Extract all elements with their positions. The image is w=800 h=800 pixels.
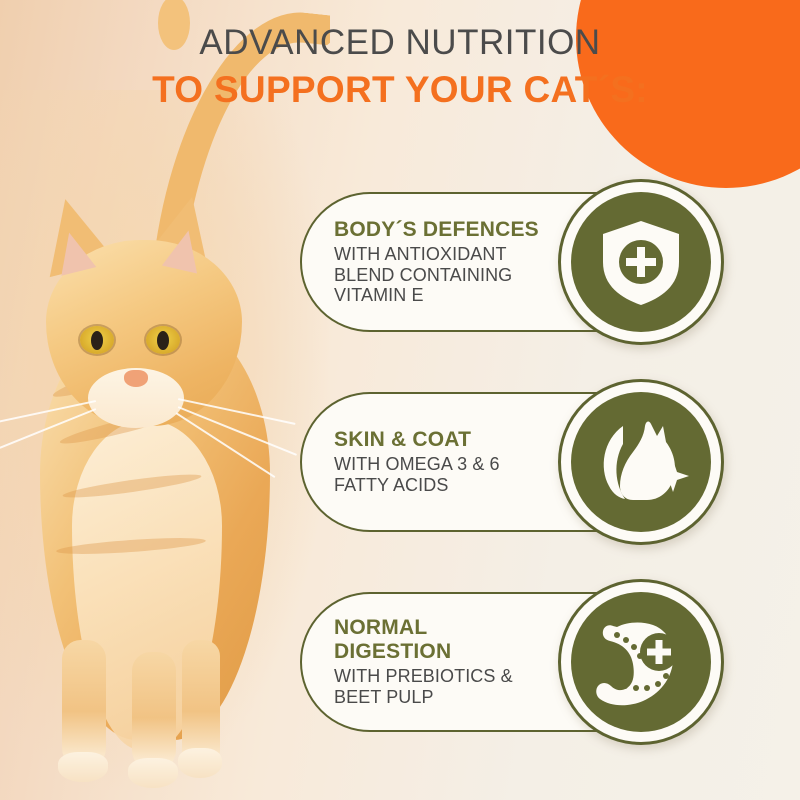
cat-eye-left <box>80 326 114 354</box>
card-subtitle-line: BEET PULP <box>334 687 584 708</box>
badge-inner-circle <box>571 392 711 532</box>
card-subtitle-line: VITAMIN E <box>334 285 584 306</box>
cat-legs <box>58 640 238 790</box>
cat-eye-right <box>146 326 180 354</box>
card-subtitle-line: WITH OMEGA 3 & 6 <box>334 454 584 475</box>
card-subtitle-line: WITH ANTIOXIDANT <box>334 244 584 265</box>
shield-plus-icon <box>593 214 689 310</box>
card-title: NORMAL DIGESTION <box>334 616 584 664</box>
card-text-block: SKIN & COAT WITH OMEGA 3 & 6 FATTY ACIDS <box>334 394 584 530</box>
cat-pupil <box>91 331 103 350</box>
page-title: ADVANCED NUTRITION TO SUPPORT YOUR CAT´S… <box>0 22 800 112</box>
cat-paw <box>178 748 222 778</box>
card-subtitle: WITH OMEGA 3 & 6 FATTY ACIDS <box>334 454 584 496</box>
card-title-line: NORMAL <box>334 616 584 640</box>
advanced-nutrition-poster: ADVANCED NUTRITION TO SUPPORT YOUR CAT´S… <box>0 0 800 800</box>
headline-line-1: ADVANCED NUTRITION <box>0 22 800 63</box>
card-title: SKIN & COAT <box>334 428 584 452</box>
badge-normal-digestion <box>558 579 724 745</box>
card-subtitle: WITH PREBIOTICS & BEET PULP <box>334 666 584 708</box>
cat-sparkle-icon <box>589 410 693 514</box>
cat-nose <box>124 370 148 387</box>
card-text-block: NORMAL DIGESTION WITH PREBIOTICS & BEET … <box>334 594 584 730</box>
badge-inner-circle <box>571 592 711 732</box>
cat-photo <box>0 0 330 800</box>
card-subtitle-line: WITH PREBIOTICS & <box>334 666 584 687</box>
card-text-block: BODY´S DEFENCES WITH ANTIOXIDANT BLEND C… <box>334 194 584 330</box>
cat-paw <box>58 752 108 782</box>
card-title: BODY´S DEFENCES <box>334 218 584 242</box>
cat-pupil <box>157 331 169 350</box>
badge-skin-and-coat <box>558 379 724 545</box>
card-subtitle: WITH ANTIOXIDANT BLEND CONTAINING VITAMI… <box>334 244 584 307</box>
cat-illustration <box>10 120 330 780</box>
cat-paw <box>128 758 178 788</box>
cat-leg <box>62 640 106 770</box>
stomach-plus-icon <box>589 610 693 714</box>
cat-leg <box>132 652 176 772</box>
headline-line-2: TO SUPPORT YOUR CAT´S: <box>0 67 800 112</box>
card-title-line: DIGESTION <box>334 640 584 664</box>
card-subtitle-line: FATTY ACIDS <box>334 475 584 496</box>
card-subtitle-line: BLEND CONTAINING <box>334 265 584 286</box>
badge-bodys-defences <box>558 179 724 345</box>
badge-inner-circle <box>571 192 711 332</box>
